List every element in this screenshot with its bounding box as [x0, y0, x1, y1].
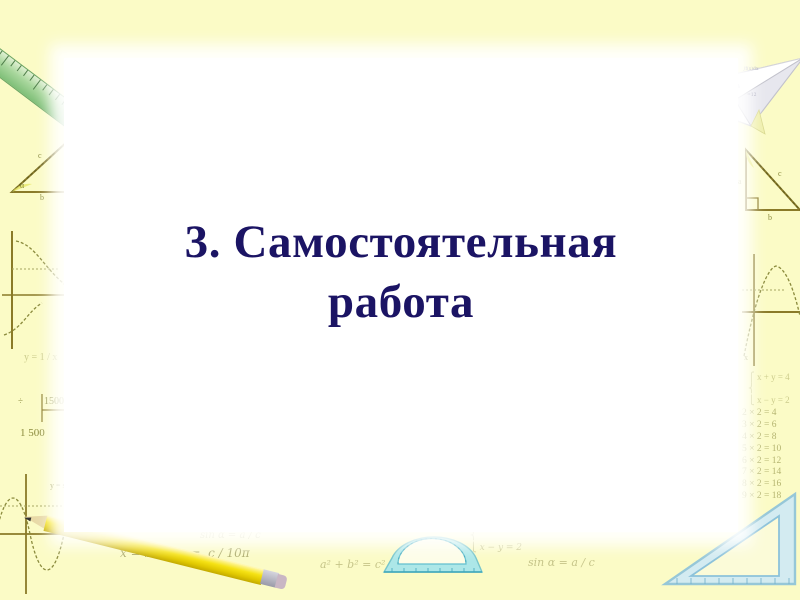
svg-text:∫f(x)dx: ∫f(x)dx [743, 65, 759, 72]
triangle-diagram-right: b a c [738, 140, 800, 220]
ruler-tick [23, 70, 28, 76]
svg-text:x: x [744, 353, 748, 362]
pencil-tip [23, 510, 49, 529]
parabola-graph-right: x [742, 250, 800, 370]
slide-title-line-2: работа [64, 272, 738, 332]
svg-text:=12: =12 [747, 92, 757, 98]
svg-text:÷: ÷ [18, 396, 23, 406]
slide-title: 3. Самостоятельная работа [64, 212, 738, 332]
formula-system-right: ⎧ x + y = 4 ⎨ ⎩ x − y = 2 [748, 372, 790, 406]
ruler-tick [29, 75, 34, 81]
slide-title-line-1: 3. Самостоятельная [64, 212, 738, 272]
ruler-tick [10, 60, 15, 66]
hyperbola-graph-left [2, 225, 72, 355]
triangle-label-b: b [40, 193, 44, 200]
svg-text:1 500: 1 500 [20, 427, 45, 439]
svg-text:b: b [768, 213, 772, 220]
pencil-eraser [275, 573, 288, 589]
svg-text:a: a [738, 177, 742, 186]
multiplication-table: 2 × 2 = 4 3 × 2 = 6 4 × 2 = 8 5 × 2 = 10… [742, 408, 781, 503]
slide-canvas: b a c α y = 1 / x 1500 ÷ 1 500 [0, 0, 800, 600]
ruler-tick [55, 94, 60, 100]
ruler-tick [42, 84, 47, 90]
ruler-tick [49, 89, 54, 95]
ruler-tick [1, 55, 9, 65]
formula-bottom-mid: a² + b² = c² [320, 558, 385, 572]
formula-hyperbola: y = 1 / x [24, 352, 57, 365]
ruler-tick [17, 65, 22, 71]
svg-text:c: c [778, 169, 782, 178]
triangle-label-alpha: α [20, 181, 25, 190]
svg-text:1500: 1500 [44, 396, 64, 407]
ruler-tick [0, 51, 3, 57]
formula-bottom-right: sin α = a / c [528, 556, 595, 570]
triangle-label-c: c [38, 151, 42, 160]
pencil-ferrule [260, 569, 279, 587]
ruler-tick [33, 80, 41, 90]
formula-pencil-bottom: x = b / 2m = c / 10π [120, 546, 250, 561]
pencil-lead [24, 515, 32, 521]
